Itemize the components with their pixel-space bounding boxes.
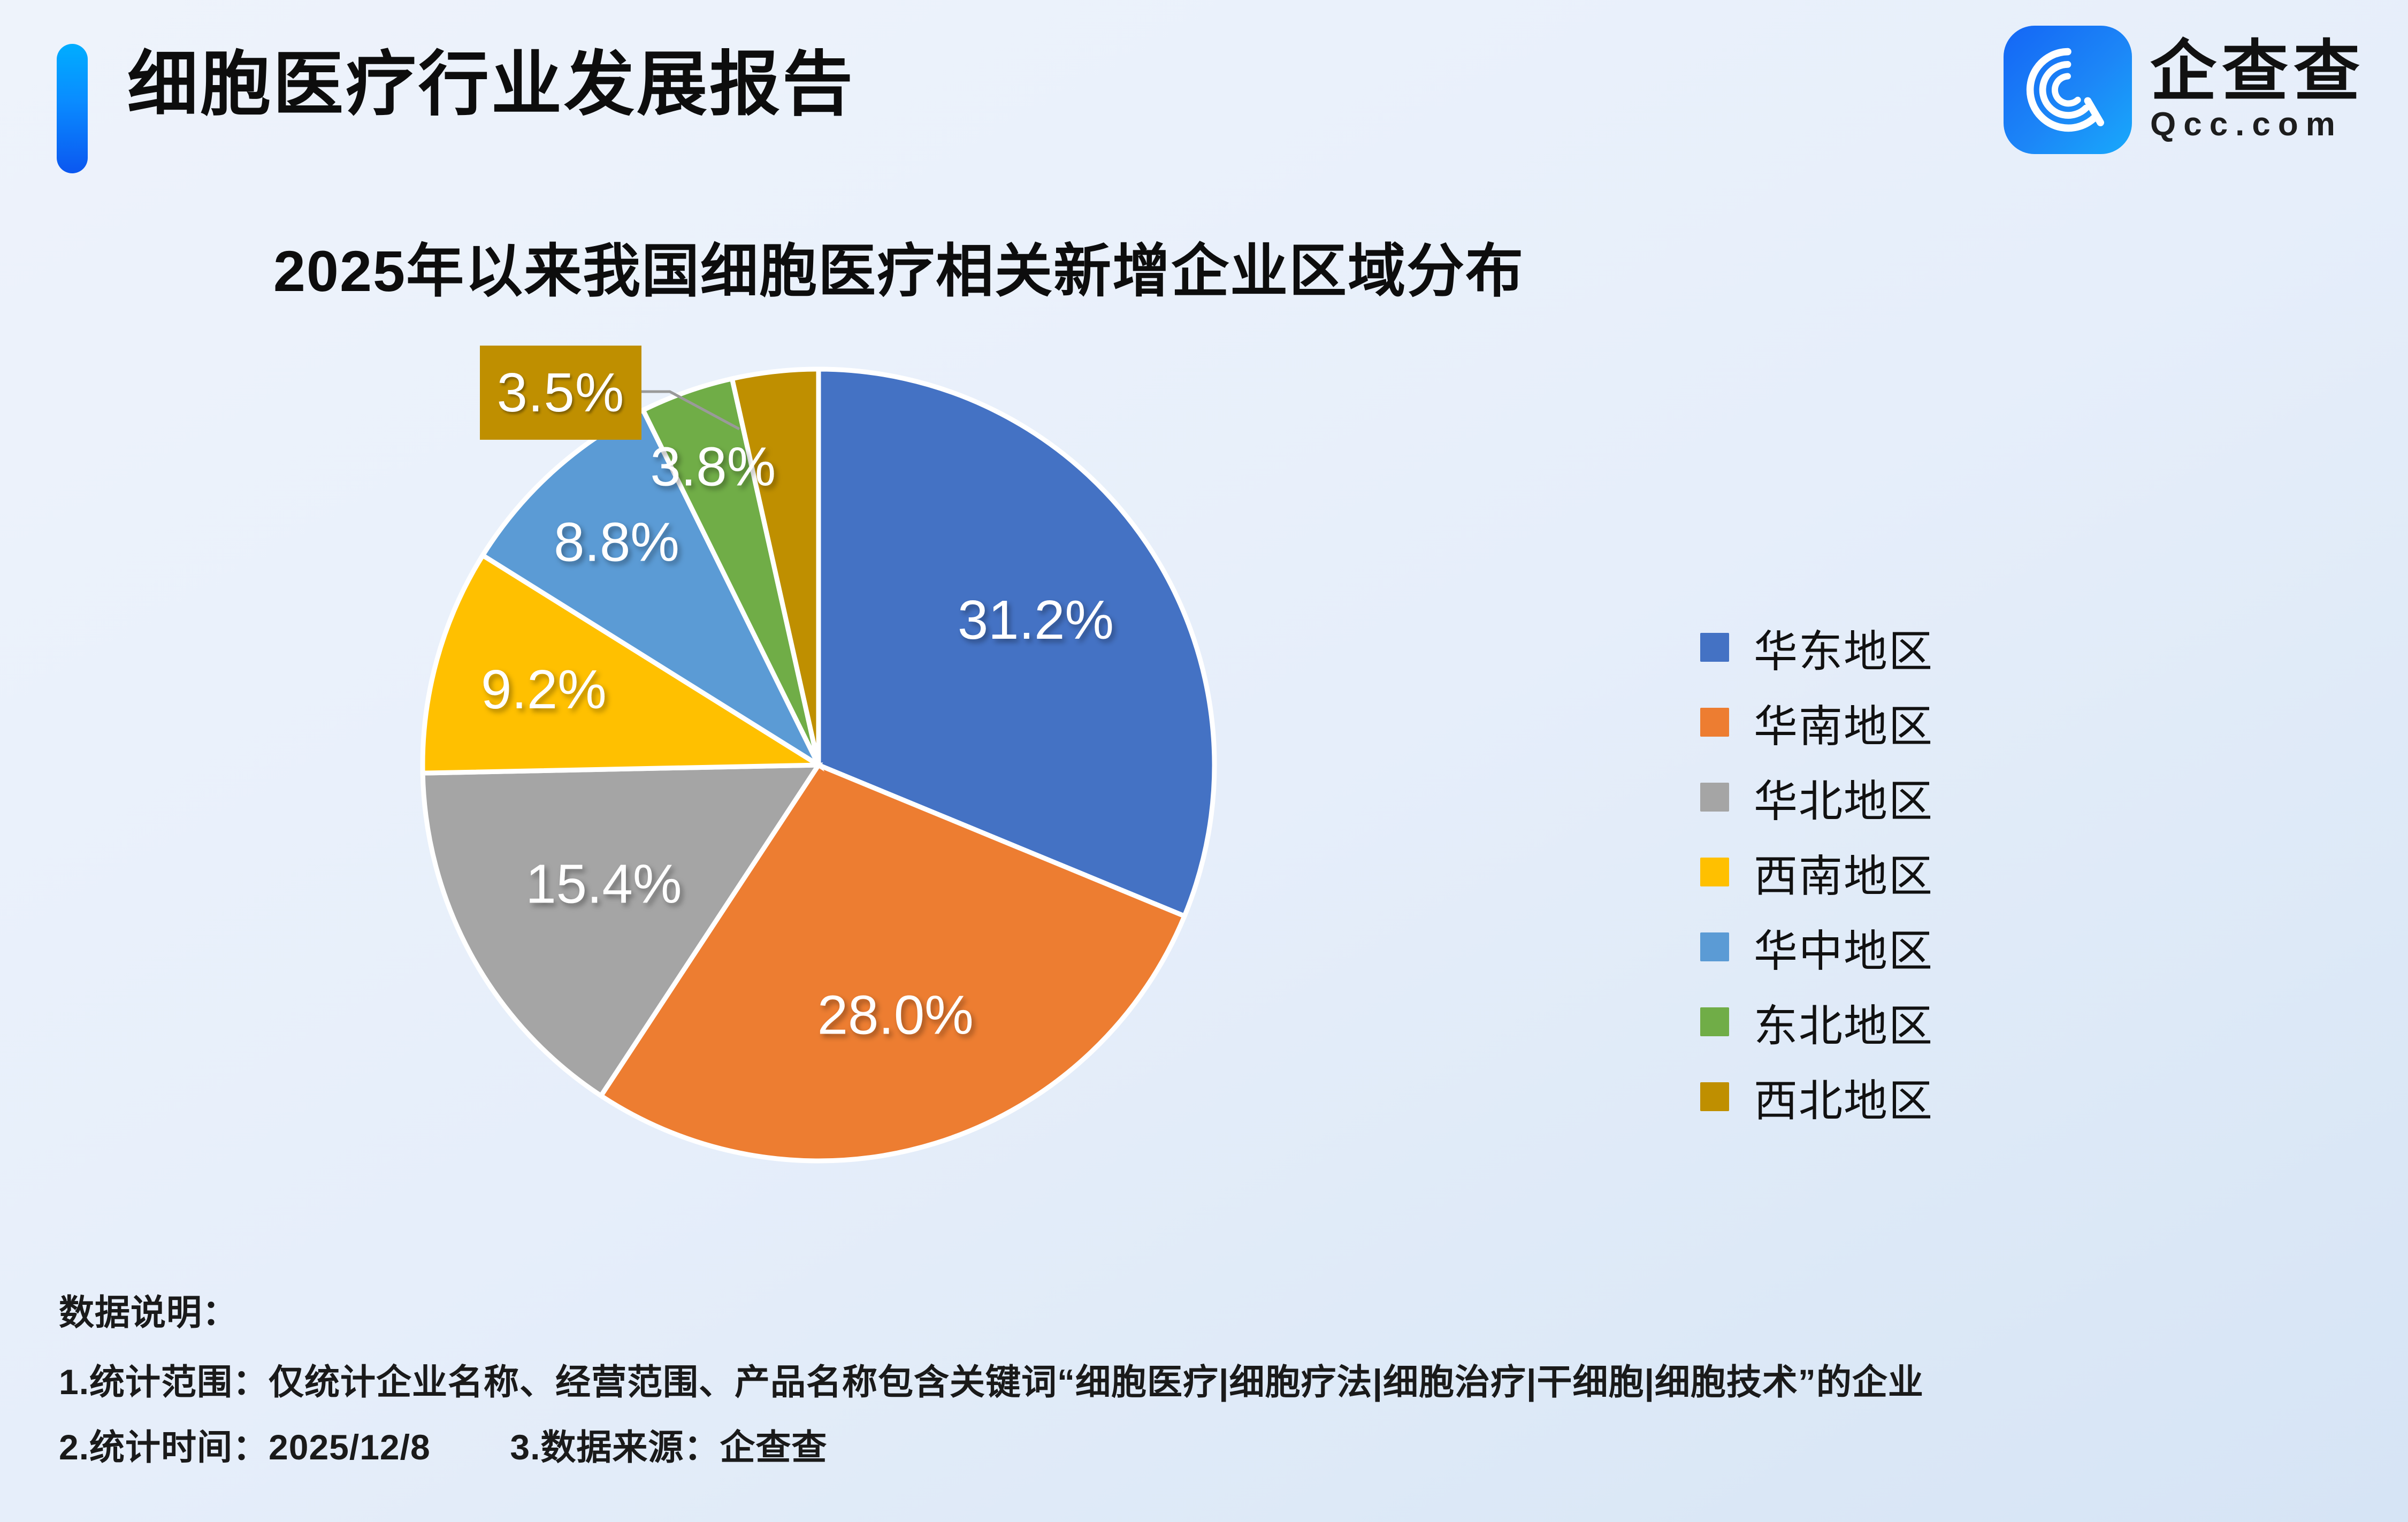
pie-slice-label: 31.2%	[958, 589, 1114, 651]
legend-item[interactable]: 东北地区	[1700, 984, 1933, 1059]
brand-name-en: Qcc.com	[2150, 108, 2365, 141]
legend-item[interactable]: 华中地区	[1700, 909, 1933, 984]
title-accent-bar	[57, 44, 88, 173]
legend-item[interactable]: 华南地区	[1700, 685, 1933, 760]
legend-swatch-icon	[1700, 858, 1729, 886]
brand-logo: 企查查 Qcc.com	[2004, 26, 2365, 154]
footer-note-2-time: 2.统计时间：2025/12/8	[59, 1427, 431, 1467]
legend-swatch-icon	[1700, 783, 1729, 812]
legend-item-label: 华北地区	[1754, 766, 1933, 829]
brand-name-cn: 企查查	[2150, 39, 2365, 105]
legend-item-label: 西南地区	[1754, 840, 1933, 904]
legend-item[interactable]: 华东地区	[1700, 610, 1933, 685]
legend-item-label: 华南地区	[1754, 691, 1933, 754]
page-header: 细胞医疗行业发展报告 企查查 Qcc.com	[0, 0, 2408, 193]
legend-item-label: 东北地区	[1754, 990, 1933, 1054]
legend-swatch-icon	[1700, 932, 1729, 961]
footer-heading: 数据说明：	[59, 1284, 2359, 1335]
pie-chart: 31.2%28.0%15.4%9.2%8.8%3.8%	[407, 353, 1241, 1188]
legend-swatch-icon	[1700, 1007, 1729, 1036]
legend-swatch-icon	[1700, 708, 1729, 737]
legend-item[interactable]: 西南地区	[1700, 835, 1933, 909]
callout-label-northwest: 3.5%	[480, 346, 641, 440]
footer-note-3-source: 3.数据来源：企查查	[510, 1427, 827, 1467]
legend-item-label: 华东地区	[1754, 616, 1933, 679]
footer-notes: 数据说明： 1.统计范围：仅统计企业名称、经营范围、产品名称包含关键词“细胞医疗…	[59, 1284, 2359, 1484]
pie-slice-label: 9.2%	[481, 659, 607, 720]
pie-slice-label: 3.8%	[650, 435, 776, 497]
pie-chart-svg: 31.2%28.0%15.4%9.2%8.8%3.8%	[407, 353, 1241, 1188]
legend-swatch-icon	[1700, 1082, 1729, 1111]
pie-slice-label: 28.0%	[817, 984, 974, 1045]
legend-item[interactable]: 西北地区	[1700, 1059, 1933, 1134]
legend-item-label: 华中地区	[1754, 915, 1933, 979]
footer-note-2: 2.统计时间：2025/12/8 3.数据来源：企查查	[59, 1419, 2359, 1470]
qcc-spiral-q-icon	[2004, 26, 2132, 154]
legend-swatch-icon	[1700, 633, 1729, 662]
legend-item-label: 西北地区	[1754, 1065, 1933, 1129]
chart-legend: 华东地区华南地区华北地区西南地区华中地区东北地区西北地区	[1700, 610, 1933, 1134]
callout-value: 3.5%	[497, 361, 625, 424]
page-title: 细胞医疗行业发展报告	[127, 49, 855, 120]
pie-slice-label: 15.4%	[525, 853, 682, 914]
pie-slice-label: 8.8%	[554, 511, 679, 573]
chart-title: 2025年以来我国细胞医疗相关新增企业区域分布	[0, 225, 1798, 308]
legend-item[interactable]: 华北地区	[1700, 760, 1933, 835]
footer-note-1: 1.统计范围：仅统计企业名称、经营范围、产品名称包含关键词“细胞医疗|细胞疗法|…	[59, 1353, 2359, 1405]
